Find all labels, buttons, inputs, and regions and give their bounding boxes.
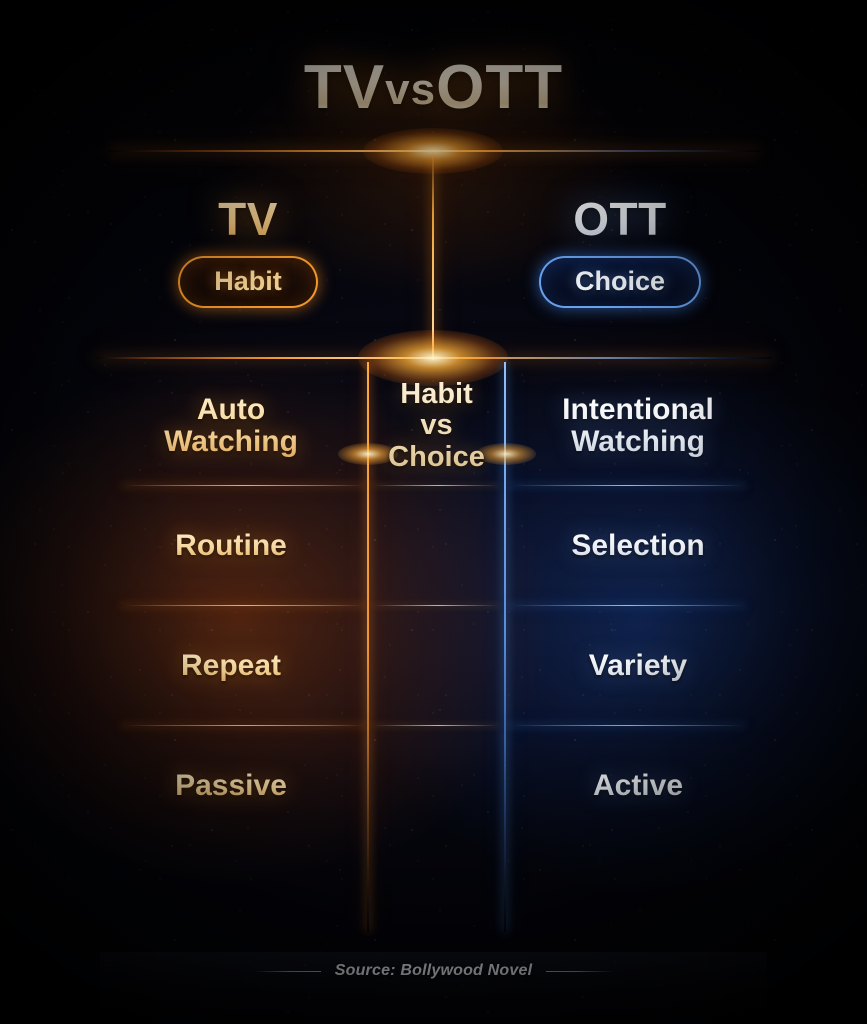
column-title-tv: TV <box>98 196 398 242</box>
row-label-ott: Active <box>593 770 683 802</box>
footer: Source: Bollywood Novel <box>0 962 867 980</box>
title-left-term: TV <box>304 53 385 122</box>
row-cell-ott: Active <box>505 770 867 802</box>
row-cell-ott: Selection <box>505 530 867 562</box>
table-row: Auto Watching Habit vs Choice Intentiona… <box>0 366 867 486</box>
criteria-line2: vs <box>420 409 452 441</box>
badge-choice[interactable]: Choice <box>539 256 701 308</box>
column-header-tv: TV Habit <box>98 196 398 308</box>
title-divider-line <box>108 150 760 152</box>
row-cell-tv: Repeat <box>0 650 368 682</box>
row-label-criteria: Habit vs Choice <box>388 379 485 473</box>
table-row: Passive Active <box>0 726 867 846</box>
center-connector-line <box>432 152 434 360</box>
row-label-tv-line2: Watching <box>164 425 298 458</box>
criteria-line3: Choice <box>388 441 485 473</box>
table-row: Repeat Variety <box>0 606 867 726</box>
row-cell-ott: Variety <box>505 650 867 682</box>
row-cell-tv: Passive <box>0 770 368 802</box>
row-label-tv-line1: Auto <box>197 393 265 426</box>
row-cell-tv: Auto Watching <box>0 394 368 459</box>
source-credit: Source: Bollywood Novel <box>335 962 533 980</box>
main-divider-line <box>96 357 772 359</box>
column-title-ott: OTT <box>470 196 770 242</box>
row-label-tv: Routine <box>175 530 287 562</box>
column-header-ott: OTT Choice <box>470 196 770 308</box>
row-cell-criteria: Habit vs Choice <box>368 379 505 473</box>
footer-rule-left <box>253 971 321 972</box>
table-row: Routine Selection <box>0 486 867 606</box>
row-label-ott: Variety <box>589 650 687 682</box>
title-divider-flare <box>363 128 503 174</box>
title-vs: vs <box>385 65 436 114</box>
row-cell-tv: Routine <box>0 530 368 562</box>
row-label-tv: Passive <box>175 770 287 802</box>
row-label-tv: Auto Watching <box>164 394 298 459</box>
comparison-grid: Auto Watching Habit vs Choice Intentiona… <box>0 366 867 846</box>
row-label-ott: Selection <box>571 530 704 562</box>
row-label-ott-line1: Intentional <box>562 393 714 426</box>
row-label-ott: Intentional Watching <box>562 394 714 459</box>
row-label-tv: Repeat <box>181 650 281 682</box>
footer-rule-right <box>546 971 614 972</box>
page-title: TVvsOTT <box>0 52 867 123</box>
infographic-canvas: TVvsOTT TV Habit OTT Choice Auto Watchin… <box>0 0 867 1024</box>
row-label-ott-line2: Watching <box>571 425 705 458</box>
title-right-term: OTT <box>436 53 563 122</box>
row-cell-ott: Intentional Watching <box>505 394 867 459</box>
badge-habit[interactable]: Habit <box>178 256 318 308</box>
criteria-line1: Habit <box>400 378 473 410</box>
